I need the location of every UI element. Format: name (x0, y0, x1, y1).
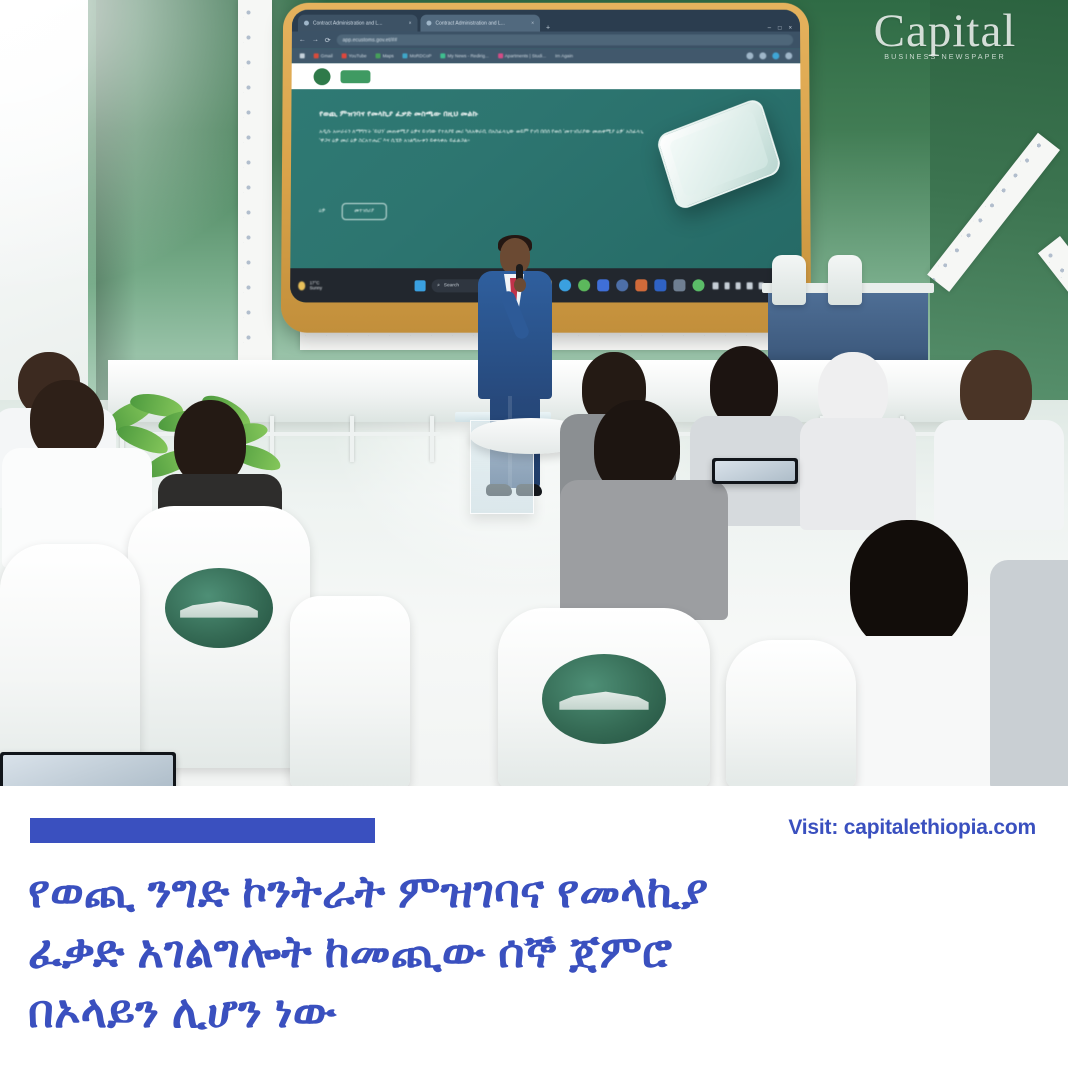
browser-tab-active[interactable]: Contract Administration and L... × (420, 15, 540, 32)
visit-link[interactable]: Visit: capitalethiopia.com (788, 816, 1036, 840)
browser-toolbar: ← → ⟳ app.ecustoms.gov.et/## (292, 32, 800, 49)
forward-icon[interactable]: → (312, 37, 319, 44)
vscode-icon[interactable] (598, 279, 610, 291)
back-icon[interactable]: ← (299, 37, 306, 44)
caption-panel: Visit: capitalethiopia.com የወጪ ንግድ ኮንትራት… (0, 786, 1068, 1068)
favicon-icon (426, 21, 431, 26)
slide-text-block: የወጪ ምዝገባና የመላኪያ ፈቃድ መስጫው በዚህ መልኩ አዲሱ አሠራ… (319, 109, 651, 146)
bookmark-maps[interactable]: Maps (376, 53, 394, 58)
laptop (0, 752, 176, 786)
settings-icon[interactable] (674, 279, 686, 291)
stage-chair-right (828, 255, 862, 305)
stage-chair-left (772, 255, 806, 305)
extensions-icon[interactable] (759, 52, 766, 59)
bookmark-im-again[interactable]: Im Again (555, 53, 573, 58)
headline: የወጪ ንግድ ኮንትራት ምዝገባና የመላኪያ ፈቃድ አገልግሎት ከመጪ… (28, 862, 1044, 1042)
bookmark-apartments[interactable]: Apartments | Studi... (498, 53, 546, 58)
search-placeholder: Search (444, 283, 459, 288)
slide-heading: የወጪ ምዝገባና የመላኪያ ፈቃድ መስጫው በዚህ መልኩ (319, 109, 651, 119)
browser-tab-title: Contract Administration and L... (435, 20, 505, 26)
presenter-head (500, 238, 530, 274)
person-body-patterned (560, 480, 728, 620)
slide-cta-button[interactable]: መተገበሪያ (341, 203, 387, 220)
decorative-motif-strip-left (238, 0, 272, 360)
bookmark-youtube[interactable]: YouTube (342, 53, 367, 58)
headline-line-2: ፈቃድ አገልግሎት ከመጪው ሰኞ ጀምሮ (28, 922, 1044, 982)
new-tab-icon[interactable]: + (543, 25, 553, 32)
network-icon[interactable] (736, 282, 741, 289)
bookmark-mordcop[interactable]: MoRDCoP (403, 53, 432, 58)
audience-member (16, 380, 146, 560)
profile-avatar[interactable] (772, 52, 779, 59)
accent-bar (30, 818, 375, 843)
slide-actions: ዕቃ መተገበሪያ (319, 203, 387, 220)
chair-logo-icon (165, 568, 273, 648)
word-icon[interactable] (617, 279, 629, 291)
volume-icon[interactable] (747, 282, 752, 289)
browser-tab-title: Contract Administration and L... (313, 20, 383, 26)
audience-chair (128, 506, 310, 768)
close-icon[interactable]: × (531, 20, 534, 26)
weather-text: 17°C Sunny (310, 280, 329, 291)
teams-icon[interactable] (655, 279, 667, 291)
slide-link[interactable]: ዕቃ (319, 208, 326, 215)
star-icon[interactable] (746, 52, 753, 59)
address-bar[interactable]: app.ecustoms.gov.et/## (337, 35, 794, 46)
menu-icon[interactable] (785, 52, 792, 59)
toolbar-right-icons (746, 52, 792, 59)
browser-tab[interactable]: Contract Administration and L... × (298, 15, 418, 32)
site-logo-icon (314, 68, 331, 85)
site-header (292, 63, 801, 89)
chair-logo-icon (542, 654, 666, 744)
person-head (850, 520, 968, 652)
audience-member (990, 560, 1068, 786)
person-body (800, 418, 916, 530)
onedrive-icon[interactable] (724, 282, 729, 289)
headline-line-1: የወጪ ንግድ ኮንትራት ምዝገባና የመላኪያ (28, 862, 1044, 922)
excel-icon[interactable] (693, 279, 705, 291)
apps-grid-icon[interactable] (300, 53, 305, 58)
edge-icon[interactable] (559, 279, 571, 291)
phone-mockup-image (655, 97, 783, 212)
audience-member (930, 350, 1060, 520)
headline-line-3: በኦላይን ሊሆን ነው (28, 982, 1044, 1042)
bookmark-gmail[interactable]: Gmail (314, 53, 333, 58)
audience-chair (0, 544, 140, 786)
close-icon[interactable]: × (409, 20, 412, 26)
audience-chair (726, 640, 856, 786)
site-wordmark (340, 70, 370, 83)
weather-widget[interactable]: 17°C Sunny (298, 280, 329, 291)
person-body (934, 420, 1064, 530)
laptop (712, 458, 798, 484)
bookmark-my-news[interactable]: My News - Redirig... (441, 53, 489, 58)
photos-icon[interactable] (636, 279, 648, 291)
news-card: Contract Administration and L... × Contr… (0, 0, 1068, 1068)
start-icon[interactable] (415, 280, 426, 291)
audience-member (560, 400, 720, 610)
chevron-up-icon[interactable] (713, 282, 718, 289)
person-body (990, 560, 1068, 786)
bookmarks-bar: Gmail YouTube Maps MoRDCoP My News - Red… (292, 48, 801, 63)
sun-icon (298, 281, 305, 290)
favicon-icon (304, 21, 309, 26)
audience-chair (290, 596, 410, 786)
event-photo: Contract Administration and L... × Contr… (0, 0, 1068, 786)
reload-icon[interactable]: ⟳ (325, 36, 331, 44)
search-icon: ⌕ (437, 282, 440, 288)
audience-member (800, 352, 918, 517)
slide-paragraph: አዲሱ አሠራሩን ለማግኘት 'ይህን' መጠቀሚያ ዕቃና ይገባው የተለ… (319, 128, 651, 146)
taskbar-app-icons (540, 279, 705, 291)
browser-tab-strip: Contract Administration and L... × Contr… (292, 10, 800, 32)
taskbar-center: ⌕ Search (415, 279, 705, 292)
audience-chair (498, 608, 710, 786)
chrome-icon[interactable] (579, 279, 591, 291)
presenter-hand (514, 278, 526, 292)
